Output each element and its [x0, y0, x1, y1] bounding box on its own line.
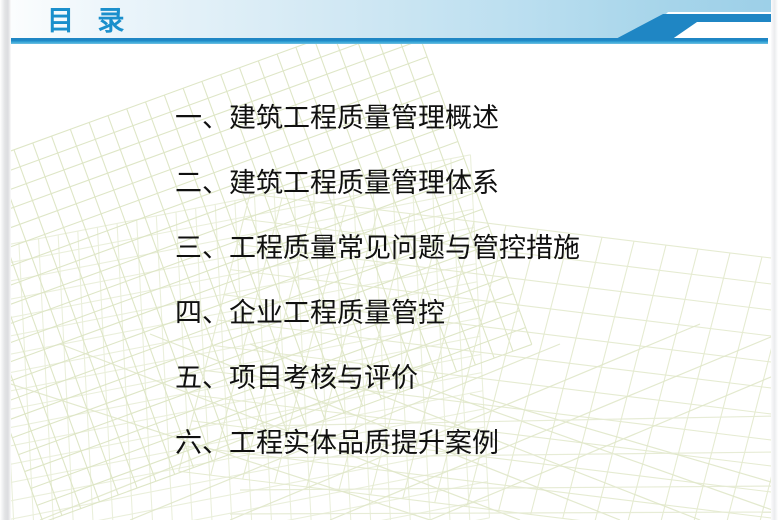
page-title: 目 录 — [47, 5, 131, 38]
toc-item-6[interactable]: 六、工程实体品质提升案例 — [175, 426, 499, 462]
toc-item-3[interactable]: 三、工程质量常见问题与管控措施 — [175, 231, 580, 267]
table-of-contents: 一、建筑工程质量管理概述 二、建筑工程质量管理体系 三、工程质量常见问题与管控措… — [0, 44, 778, 520]
toc-item-2[interactable]: 二、建筑工程质量管理体系 — [175, 166, 499, 202]
slide-canvas: 目 录 一、建筑工程质量管理概述 二、建筑工程质量管理体系 三、工程质量常见问题… — [0, 0, 778, 520]
toc-item-1[interactable]: 一、建筑工程质量管理概述 — [175, 101, 499, 137]
slide-header: 目 录 — [0, 0, 778, 44]
toc-item-4[interactable]: 四、企业工程质量管控 — [175, 296, 445, 332]
toc-item-5[interactable]: 五、项目考核与评价 — [175, 361, 418, 397]
